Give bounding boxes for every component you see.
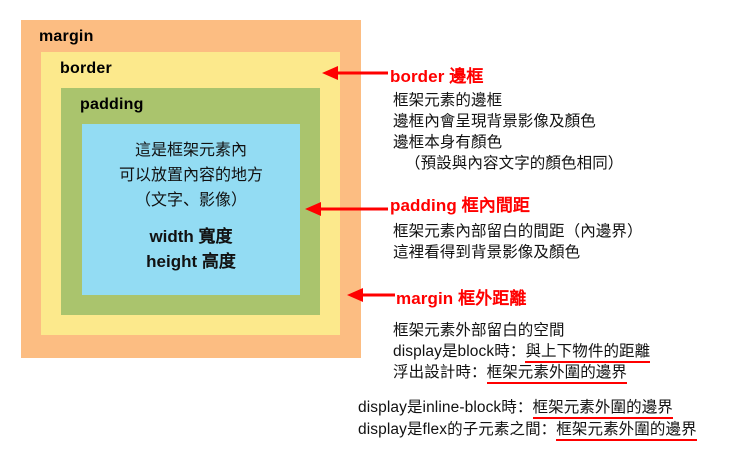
- box-model-diagram: margin border padding 這是框架元素內 可以放置內容的地方 …: [0, 0, 750, 461]
- content-width-label: width 寬度: [82, 224, 300, 249]
- border-section-line-3: 邊框本身有顏色: [393, 130, 502, 152]
- content-text-line-2: 可以放置內容的地方: [82, 163, 300, 188]
- margin-label: margin: [39, 28, 94, 46]
- margin-section-line-2-prefix: display是block時：: [393, 343, 525, 360]
- border-section-line-2: 邊框內會呈現背景影像及顏色: [393, 109, 596, 131]
- margin-section-line-3-prefix: 浮出設計時：: [393, 364, 487, 381]
- padding-section-line-2: 這裡看得到背景影像及顏色: [393, 240, 580, 262]
- extra-line-flex: display是flex的子元素之間：框架元素外圍的邊界: [358, 417, 697, 439]
- padding-section-heading: padding 框內間距: [390, 191, 530, 216]
- extra-line-2-prefix: display是flex的子元素之間：: [358, 421, 556, 438]
- arrow-to-border-icon: [320, 63, 390, 83]
- border-section-line-1: 框架元素的邊框: [393, 88, 502, 110]
- padding-section-line-1: 框架元素內部留白的間距（內邊界）: [393, 219, 643, 241]
- margin-section-line-3: 浮出設計時：框架元素外圍的邊界: [393, 360, 627, 382]
- content-text-spacer: [82, 213, 300, 224]
- arrow-to-padding-icon: [303, 199, 390, 219]
- margin-section-line-1: 框架元素外部留白的空間: [393, 318, 565, 340]
- extra-line-1-underlined: 框架元素外圍的邊界: [533, 399, 673, 419]
- content-box-text: 這是框架元素內 可以放置內容的地方 （文字、影像） width 寬度 heigh…: [82, 138, 300, 274]
- description-panel: border 邊框 框架元素的邊框 邊框內會呈現背景影像及顏色 邊框本身有顏色 …: [388, 0, 750, 461]
- border-section-heading: border 邊框: [390, 62, 483, 87]
- content-height-label: height 高度: [82, 249, 300, 274]
- margin-section-line-2: display是block時：與上下物件的距離: [393, 339, 650, 361]
- border-section-line-4: （預設與內容文字的顏色相同）: [393, 151, 623, 173]
- extra-line-2-underlined: 框架元素外圍的邊界: [556, 421, 696, 441]
- extra-line-1-prefix: display是inline-block時：: [358, 399, 533, 416]
- padding-label: padding: [80, 96, 144, 114]
- content-text-line-1: 這是框架元素內: [82, 138, 300, 163]
- margin-section-heading: margin 框外距離: [396, 284, 527, 309]
- margin-section-line-3-underlined: 框架元素外圍的邊界: [487, 364, 627, 384]
- border-label: border: [60, 60, 112, 78]
- extra-line-inline-block: display是inline-block時：框架元素外圍的邊界: [358, 395, 673, 417]
- content-text-line-3: （文字、影像）: [82, 188, 300, 213]
